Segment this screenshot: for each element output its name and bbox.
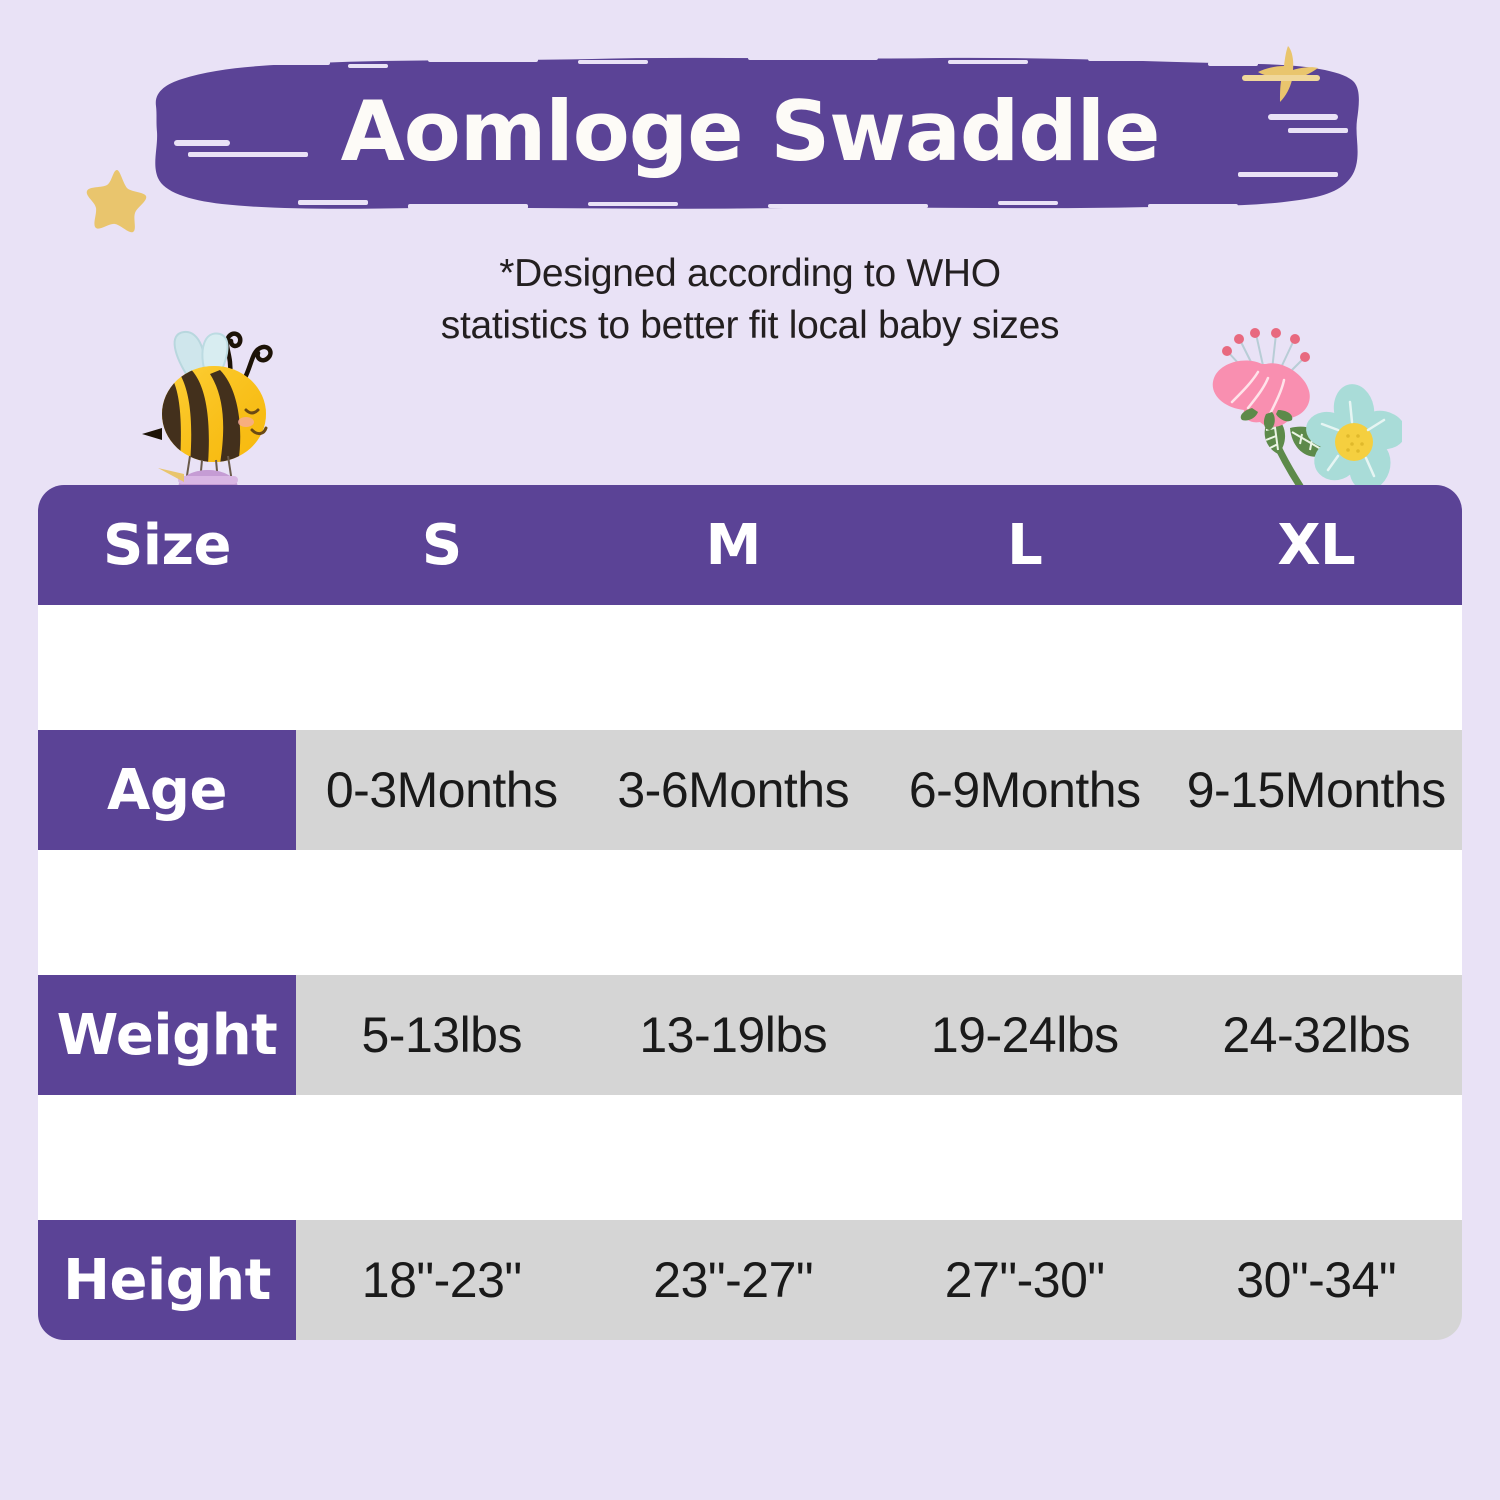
table-row-age: Age 0-3Months 3-6Months 6-9Months 9-15Mo… (38, 730, 1462, 850)
row-label-weight: Weight (38, 975, 296, 1095)
row-spacer (38, 850, 1462, 975)
weight-value-xl: 24-32lbs (1171, 1006, 1463, 1064)
age-value-m: 3-6Months (588, 761, 880, 819)
weight-value-s: 5-13lbs (296, 1006, 588, 1064)
height-value-xl: 30"-34" (1171, 1251, 1463, 1309)
column-header-m: M (588, 513, 880, 578)
subtitle-line-2: statistics to better fit local baby size… (0, 300, 1500, 352)
row-label-height: Height (38, 1220, 296, 1340)
row-spacer (38, 1095, 1462, 1220)
weight-value-m: 13-19lbs (588, 1006, 880, 1064)
subtitle: *Designed according to WHO statistics to… (0, 248, 1500, 352)
age-value-xl: 9-15Months (1171, 761, 1463, 819)
weight-value-l: 19-24lbs (879, 1006, 1171, 1064)
age-cells: 0-3Months 3-6Months 6-9Months 9-15Months (296, 730, 1462, 850)
row-spacer (38, 605, 1462, 730)
height-value-s: 18"-23" (296, 1251, 588, 1309)
column-header-s: S (296, 513, 588, 578)
column-header-size: Size (38, 485, 296, 605)
star-icon (82, 164, 152, 234)
row-label-age: Age (38, 730, 296, 850)
column-header-xl: XL (1171, 513, 1463, 578)
table-row-height: Height 18"-23" 23"-27" 27"-30" 30"-34" (38, 1220, 1462, 1340)
table-row-weight: Weight 5-13lbs 13-19lbs 19-24lbs 24-32lb… (38, 975, 1462, 1095)
age-value-l: 6-9Months (879, 761, 1171, 819)
height-cells: 18"-23" 23"-27" 27"-30" 30"-34" (296, 1220, 1462, 1340)
table-header-row: Size S M L XL (38, 485, 1462, 605)
size-chart-table: Size S M L XL Age 0-3Months 3-6Months 6-… (38, 485, 1462, 1340)
column-header-l: L (879, 513, 1171, 578)
height-value-l: 27"-30" (879, 1251, 1171, 1309)
age-value-s: 0-3Months (296, 761, 588, 819)
subtitle-line-1: *Designed according to WHO (0, 248, 1500, 300)
height-value-m: 23"-27" (588, 1251, 880, 1309)
size-header-cells: S M L XL (296, 485, 1462, 605)
shooting-star-icon (1236, 44, 1346, 114)
weight-cells: 5-13lbs 13-19lbs 19-24lbs 24-32lbs (296, 975, 1462, 1095)
